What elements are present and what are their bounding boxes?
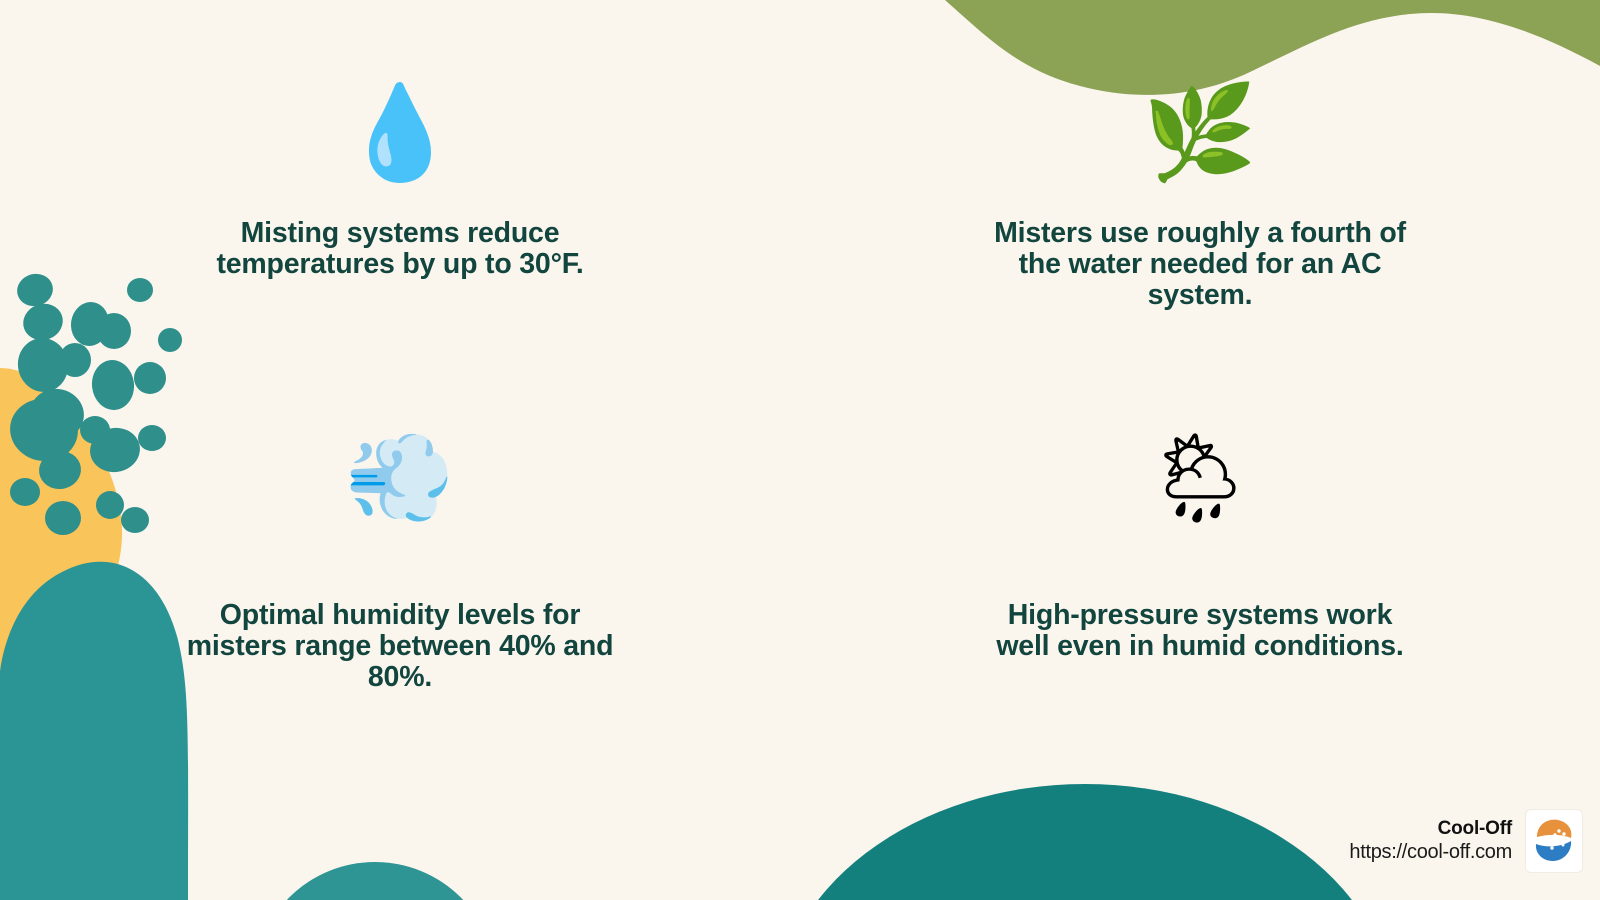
sun-behind-rain-cloud-icon: 🌦 (1144, 418, 1256, 538)
fact-card-3: 💨 Optimal humidity levels for misters ra… (0, 400, 800, 740)
brand-name: Cool-Off (1438, 817, 1512, 841)
infographic-canvas: 💧 Misting systems reduce temperatures by… (0, 0, 1600, 900)
dashing-wind-icon: 💨 (345, 418, 455, 538)
facts-grid: 💧 Misting systems reduce temperatures by… (0, 60, 1600, 740)
fact-text-2: Misters use roughly a fourth of the wate… (985, 218, 1415, 310)
teal-dome-large (775, 784, 1395, 900)
fact-text-3: Optimal humidity levels for misters rang… (185, 600, 615, 692)
teal-dome-small (255, 862, 495, 900)
brand-url[interactable]: https://cool-off.com (1349, 840, 1512, 865)
fact-text-1: Misting systems reduce temperatures by u… (185, 218, 615, 280)
fact-text-4: High-pressure systems work well even in … (985, 600, 1415, 662)
fact-card-1: 💧 Misting systems reduce temperatures by… (0, 60, 800, 400)
cool-off-logo[interactable] (1526, 810, 1582, 872)
fact-card-2: 🌿 Misters use roughly a fourth of the wa… (800, 60, 1600, 400)
cool-off-logo-mark (1531, 815, 1577, 867)
herb-leaves-icon: 🌿 (1143, 78, 1258, 188)
fact-card-4: 🌦 High-pressure systems work well even i… (800, 400, 1600, 740)
brand-footer: Cool-Off https://cool-off.com (1349, 810, 1582, 872)
water-droplet-icon: 💧 (343, 78, 458, 188)
brand-text-block: Cool-Off https://cool-off.com (1349, 817, 1512, 866)
